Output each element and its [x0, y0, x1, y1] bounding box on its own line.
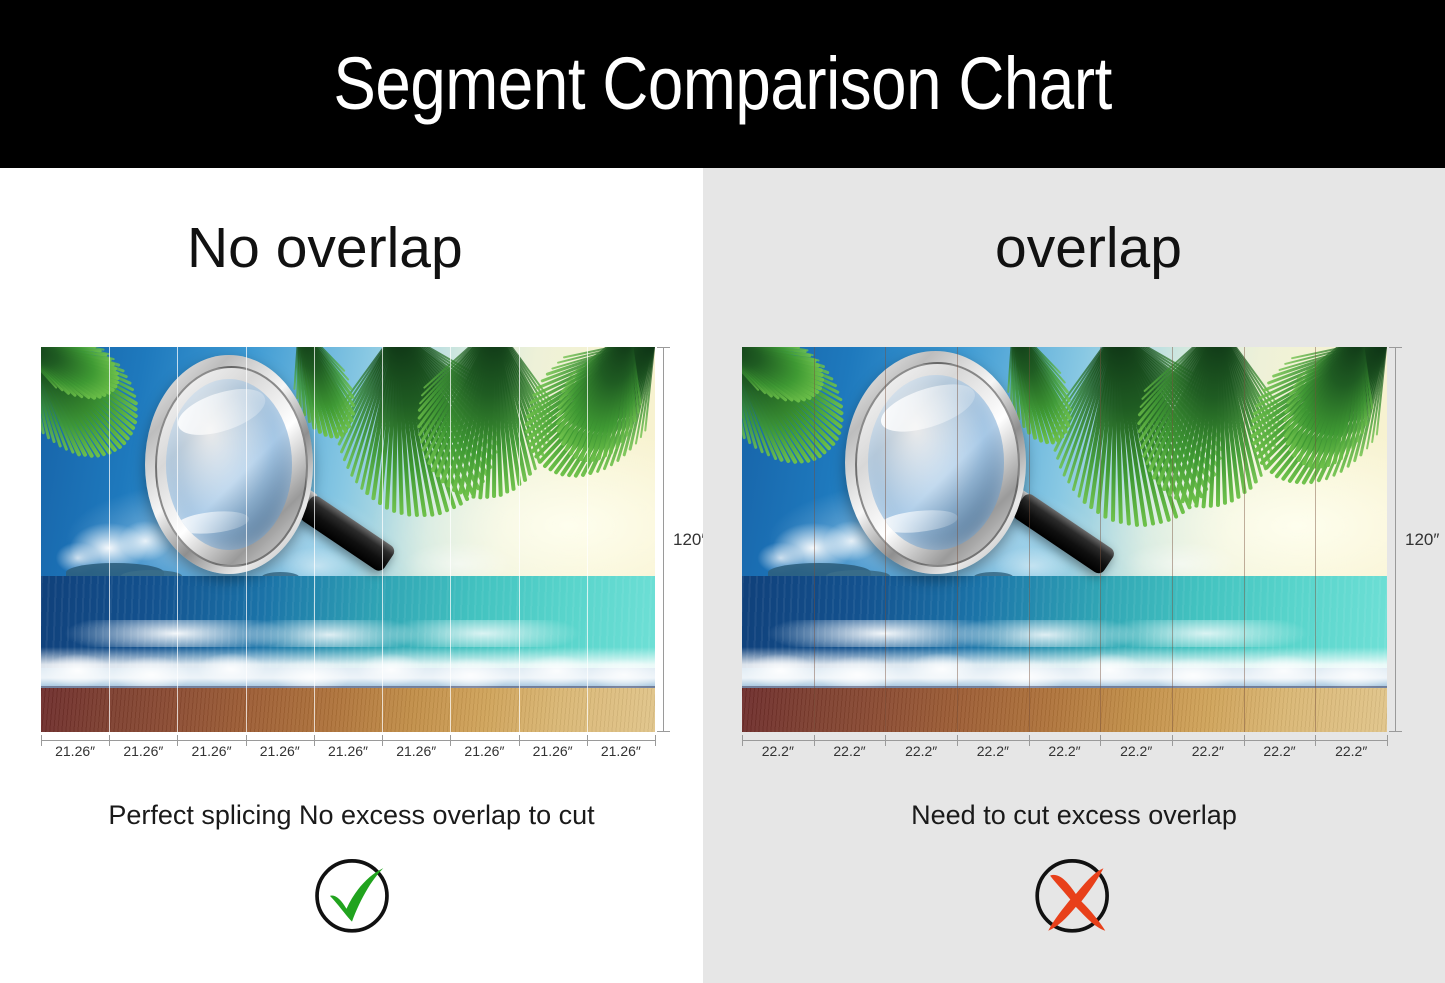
dimension-tick: [1387, 735, 1388, 746]
segment-width-label: 21.26″: [246, 743, 314, 759]
segment-width-label: 22.2″: [742, 743, 814, 759]
segment-width-label: 21.26″: [587, 743, 655, 759]
segment-width-label: 21.26″: [41, 743, 109, 759]
segment-labels-right: 22.2″22.2″22.2″22.2″22.2″22.2″22.2″22.2″…: [742, 743, 1387, 759]
segment-width-label: 22.2″: [1100, 743, 1172, 759]
segment-width-label: 21.26″: [177, 743, 245, 759]
segment-width-label: 22.2″: [1172, 743, 1244, 759]
dimension-line: [41, 740, 655, 741]
green-check-circle-icon: [306, 848, 398, 940]
segment-width-label: 22.2″: [957, 743, 1029, 759]
comparison-panels: No overlap: [0, 168, 1445, 983]
dimension-line: [663, 347, 664, 732]
dimension-tick: [655, 735, 656, 746]
page-root: Segment Comparison Chart No overlap: [0, 0, 1445, 983]
segment-width-label: 22.2″: [1029, 743, 1101, 759]
mural-image-left: [41, 347, 655, 732]
segment-width-label: 21.26″: [519, 743, 587, 759]
segment-width-label: 21.26″: [314, 743, 382, 759]
mural-right: [742, 347, 1387, 732]
page-title: Segment Comparison Chart: [333, 47, 1111, 121]
segment-width-label: 21.26″: [382, 743, 450, 759]
sand-texture-layer: [742, 688, 1387, 732]
dimension-cap: [657, 731, 670, 732]
height-label-right: 120″: [1405, 530, 1439, 550]
segment-width-label: 22.2″: [1244, 743, 1316, 759]
title-bar: Segment Comparison Chart: [0, 0, 1445, 168]
dimension-line: [1395, 347, 1396, 732]
panel-no-overlap: No overlap: [0, 168, 703, 983]
dimension-line: [742, 740, 1387, 741]
segment-width-label: 22.2″: [1315, 743, 1387, 759]
segment-width-label: 21.26″: [109, 743, 177, 759]
caption-left: Perfect splicing No excess overlap to cu…: [0, 800, 703, 831]
panel-heading-right: overlap: [995, 220, 1182, 277]
status-mark-right: [1028, 848, 1120, 940]
panel-overlap: overlap: [703, 168, 1445, 983]
mural-image-right: [742, 347, 1387, 732]
segment-width-label: 21.26″: [450, 743, 518, 759]
red-cross-circle-icon: [1028, 848, 1120, 940]
panel-heading-left: No overlap: [187, 220, 463, 277]
segment-width-label: 22.2″: [814, 743, 886, 759]
status-mark-left: [306, 848, 398, 940]
caption-right: Need to cut excess overlap: [703, 800, 1445, 831]
dimension-cap: [1389, 731, 1402, 732]
sand-texture-layer: [41, 688, 655, 732]
segment-labels-left: 21.26″21.26″21.26″21.26″21.26″21.26″21.2…: [41, 743, 655, 759]
mural-left: [41, 347, 655, 732]
segment-width-label: 22.2″: [885, 743, 957, 759]
